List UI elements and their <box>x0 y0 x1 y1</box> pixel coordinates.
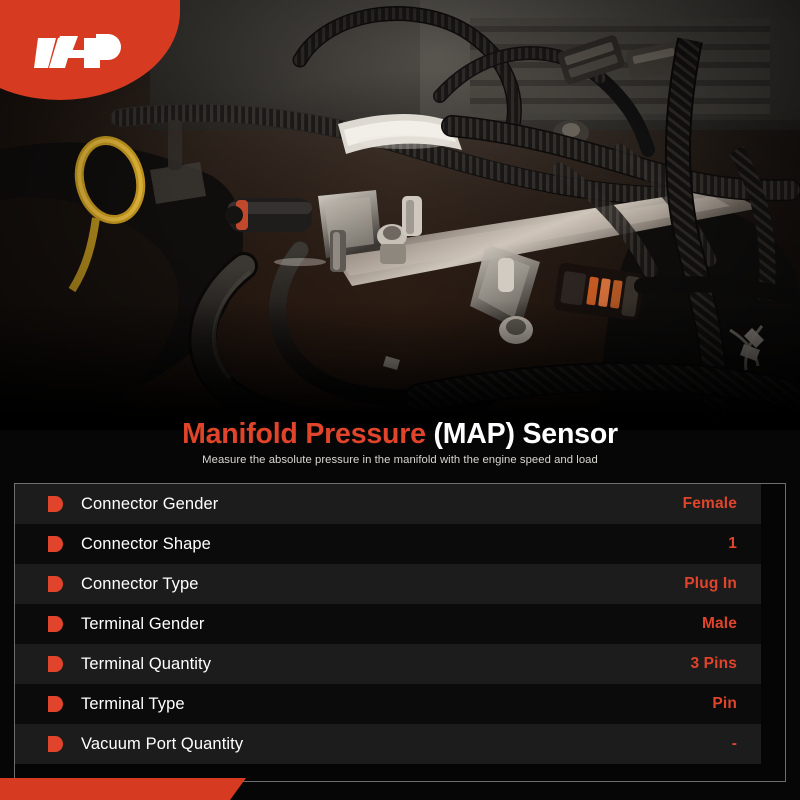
page-subtitle: Measure the absolute pressure in the man… <box>0 454 800 466</box>
spec-list: Connector GenderFemaleConnector Shape1Co… <box>15 484 787 764</box>
spec-value: 3 Pins <box>690 655 737 673</box>
spec-label: Terminal Type <box>81 695 185 714</box>
bullet-icon <box>48 576 63 592</box>
spec-row: Terminal Quantity3 Pins <box>15 644 761 684</box>
title-highlight: Manifold Pressure <box>182 418 433 450</box>
spec-card: Connector GenderFemaleConnector Shape1Co… <box>14 483 786 782</box>
product-infographic: Manifold Pressure (MAP) Sensor Measure t… <box>0 0 800 800</box>
spec-value: Pin <box>712 695 737 713</box>
spec-value: Male <box>702 615 737 633</box>
spec-label: Vacuum Port Quantity <box>81 735 243 754</box>
spec-row: Connector GenderFemale <box>15 484 761 524</box>
spec-value: Female <box>683 495 737 513</box>
brand-logo <box>0 0 180 100</box>
spec-label: Connector Type <box>81 575 199 594</box>
spec-value: - <box>732 735 737 753</box>
spec-label: Connector Gender <box>81 495 218 514</box>
spec-label: Terminal Gender <box>81 615 204 634</box>
bullet-icon <box>48 496 63 512</box>
spec-value: Plug In <box>684 575 737 593</box>
spec-value: 1 <box>728 535 737 553</box>
bullet-icon <box>48 656 63 672</box>
page-title: Manifold Pressure (MAP) Sensor <box>0 418 800 451</box>
bullet-icon <box>48 616 63 632</box>
bullet-icon <box>48 536 63 552</box>
hp-logo-icon <box>34 28 130 76</box>
spec-row: Connector Shape1 <box>15 524 761 564</box>
title-block: Manifold Pressure (MAP) Sensor Measure t… <box>0 418 800 480</box>
bullet-icon <box>48 696 63 712</box>
spec-label: Connector Shape <box>81 535 211 554</box>
spec-row: Vacuum Port Quantity- <box>15 724 761 764</box>
bullet-icon <box>48 736 63 752</box>
spec-row: Terminal TypePin <box>15 684 761 724</box>
bottom-accent-wedge <box>0 778 260 800</box>
spec-row: Terminal GenderMale <box>15 604 761 644</box>
spec-row: Connector TypePlug In <box>15 564 761 604</box>
spec-label: Terminal Quantity <box>81 655 211 674</box>
title-rest: (MAP) Sensor <box>433 418 617 450</box>
